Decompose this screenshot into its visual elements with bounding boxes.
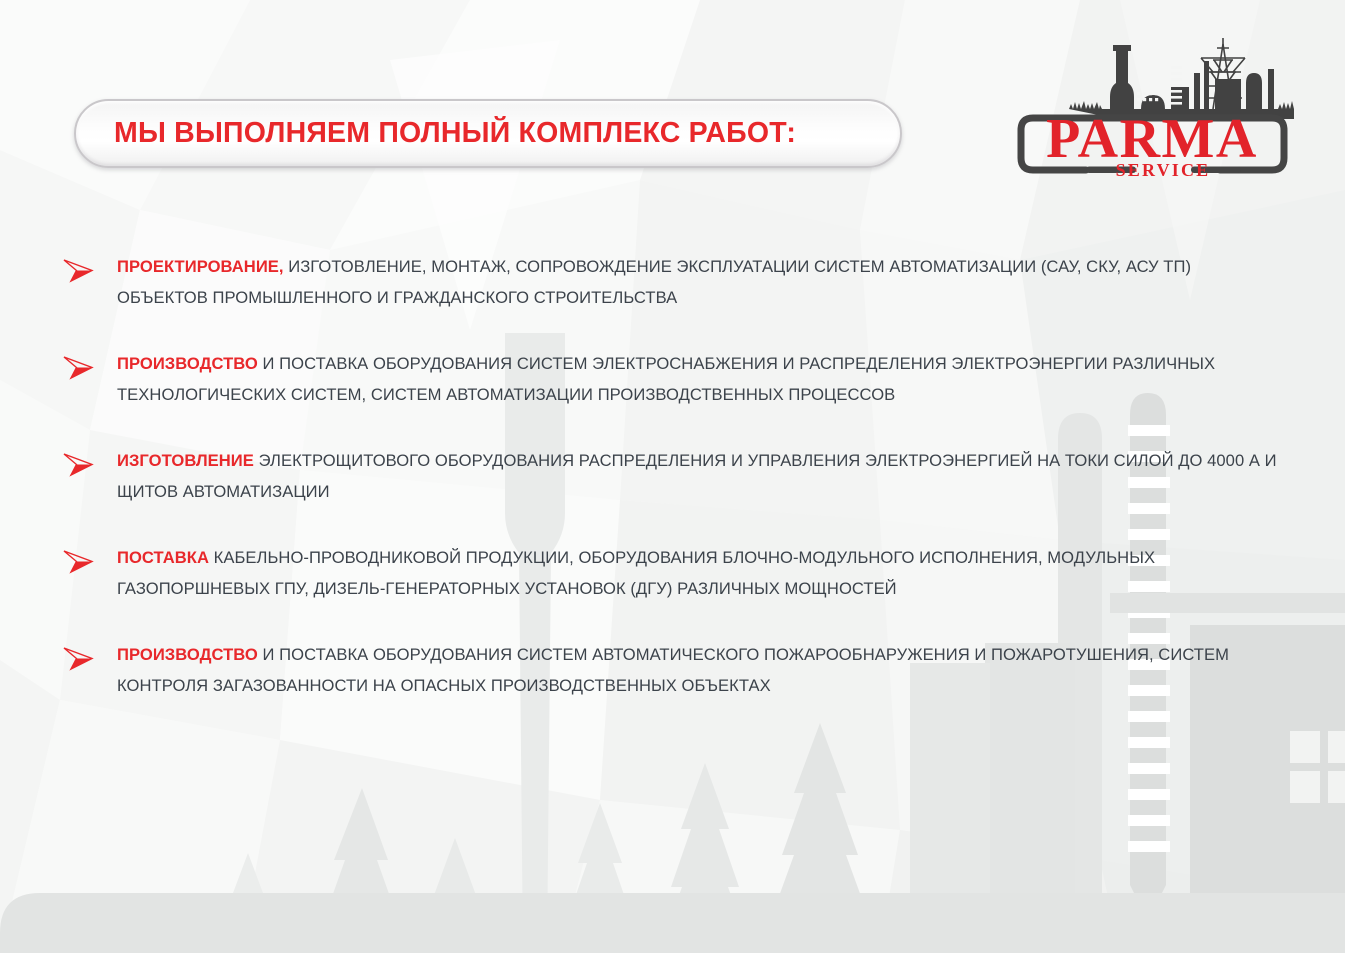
list-item-body: КАБЕЛЬНО-ПРОВОДНИКОВОЙ ПРОДУКЦИИ, ОБОРУД… — [117, 548, 1155, 598]
list-item-keyword: ПРОЕКТИРОВАНИЕ, — [117, 257, 284, 276]
arrow-bullet-icon — [62, 646, 94, 672]
list-item-body: ЭЛЕКТРОЩИТОВОГО ОБОРУДОВАНИЯ РАСПРЕДЕЛЕН… — [117, 451, 1277, 501]
services-list: ПРОЕКТИРОВАНИЕ, ИЗГОТОВЛЕНИЕ, МОНТАЖ, СО… — [62, 252, 1282, 701]
parma-service-logo: PARMA SERVICE — [1011, 26, 1294, 182]
arrow-bullet-icon — [62, 452, 94, 478]
arrow-bullet-icon — [62, 355, 94, 381]
list-item-text: ИЗГОТОВЛЕНИЕ ЭЛЕКТРОЩИТОВОГО ОБОРУДОВАНИ… — [117, 446, 1282, 507]
list-item: ПОСТАВКА КАБЕЛЬНО-ПРОВОДНИКОВОЙ ПРОДУКЦИ… — [62, 543, 1282, 604]
arrow-bullet-icon — [62, 549, 94, 575]
list-item: ПРОИЗВОДСТВО И ПОСТАВКА ОБОРУДОВАНИЯ СИС… — [62, 640, 1282, 701]
industrial-skyline-icon — [1069, 38, 1294, 119]
list-item-body: И ПОСТАВКА ОБОРУДОВАНИЯ СИСТЕМ ЭЛЕКТРОСН… — [117, 354, 1215, 404]
list-item: ИЗГОТОВЛЕНИЕ ЭЛЕКТРОЩИТОВОГО ОБОРУДОВАНИ… — [62, 446, 1282, 507]
list-item-text: ПРОЕКТИРОВАНИЕ, ИЗГОТОВЛЕНИЕ, МОНТАЖ, СО… — [117, 252, 1282, 313]
page-title: МЫ ВЫПОЛНЯЕМ ПОЛНЫЙ КОМПЛЕКС РАБОТ: — [114, 117, 796, 150]
list-item: ПРОЕКТИРОВАНИЕ, ИЗГОТОВЛЕНИЕ, МОНТАЖ, СО… — [62, 252, 1282, 313]
slide-title-banner: МЫ ВЫПОЛНЯЕМ ПОЛНЫЙ КОМПЛЕКС РАБОТ: — [74, 99, 902, 168]
list-item-keyword: ИЗГОТОВЛЕНИЕ — [117, 451, 254, 470]
arrow-bullet-icon — [62, 258, 94, 284]
slide-root: МЫ ВЫПОЛНЯЕМ ПОЛНЫЙ КОМПЛЕКС РАБОТ: — [0, 0, 1345, 953]
list-item-text: ПРОИЗВОДСТВО И ПОСТАВКА ОБОРУДОВАНИЯ СИС… — [117, 349, 1282, 410]
list-item-keyword: ПОСТАВКА — [117, 548, 209, 567]
list-item-keyword: ПРОИЗВОДСТВО — [117, 354, 258, 373]
list-item-text: ПРОИЗВОДСТВО И ПОСТАВКА ОБОРУДОВАНИЯ СИС… — [117, 640, 1282, 701]
list-item: ПРОИЗВОДСТВО И ПОСТАВКА ОБОРУДОВАНИЯ СИС… — [62, 349, 1282, 410]
list-item-keyword: ПРОИЗВОДСТВО — [117, 645, 258, 664]
list-item-body: И ПОСТАВКА ОБОРУДОВАНИЯ СИСТЕМ АВТОМАТИЧ… — [117, 645, 1229, 695]
logo-tagline-text: SERVICE — [1116, 160, 1211, 180]
list-item-text: ПОСТАВКА КАБЕЛЬНО-ПРОВОДНИКОВОЙ ПРОДУКЦИ… — [117, 543, 1282, 604]
